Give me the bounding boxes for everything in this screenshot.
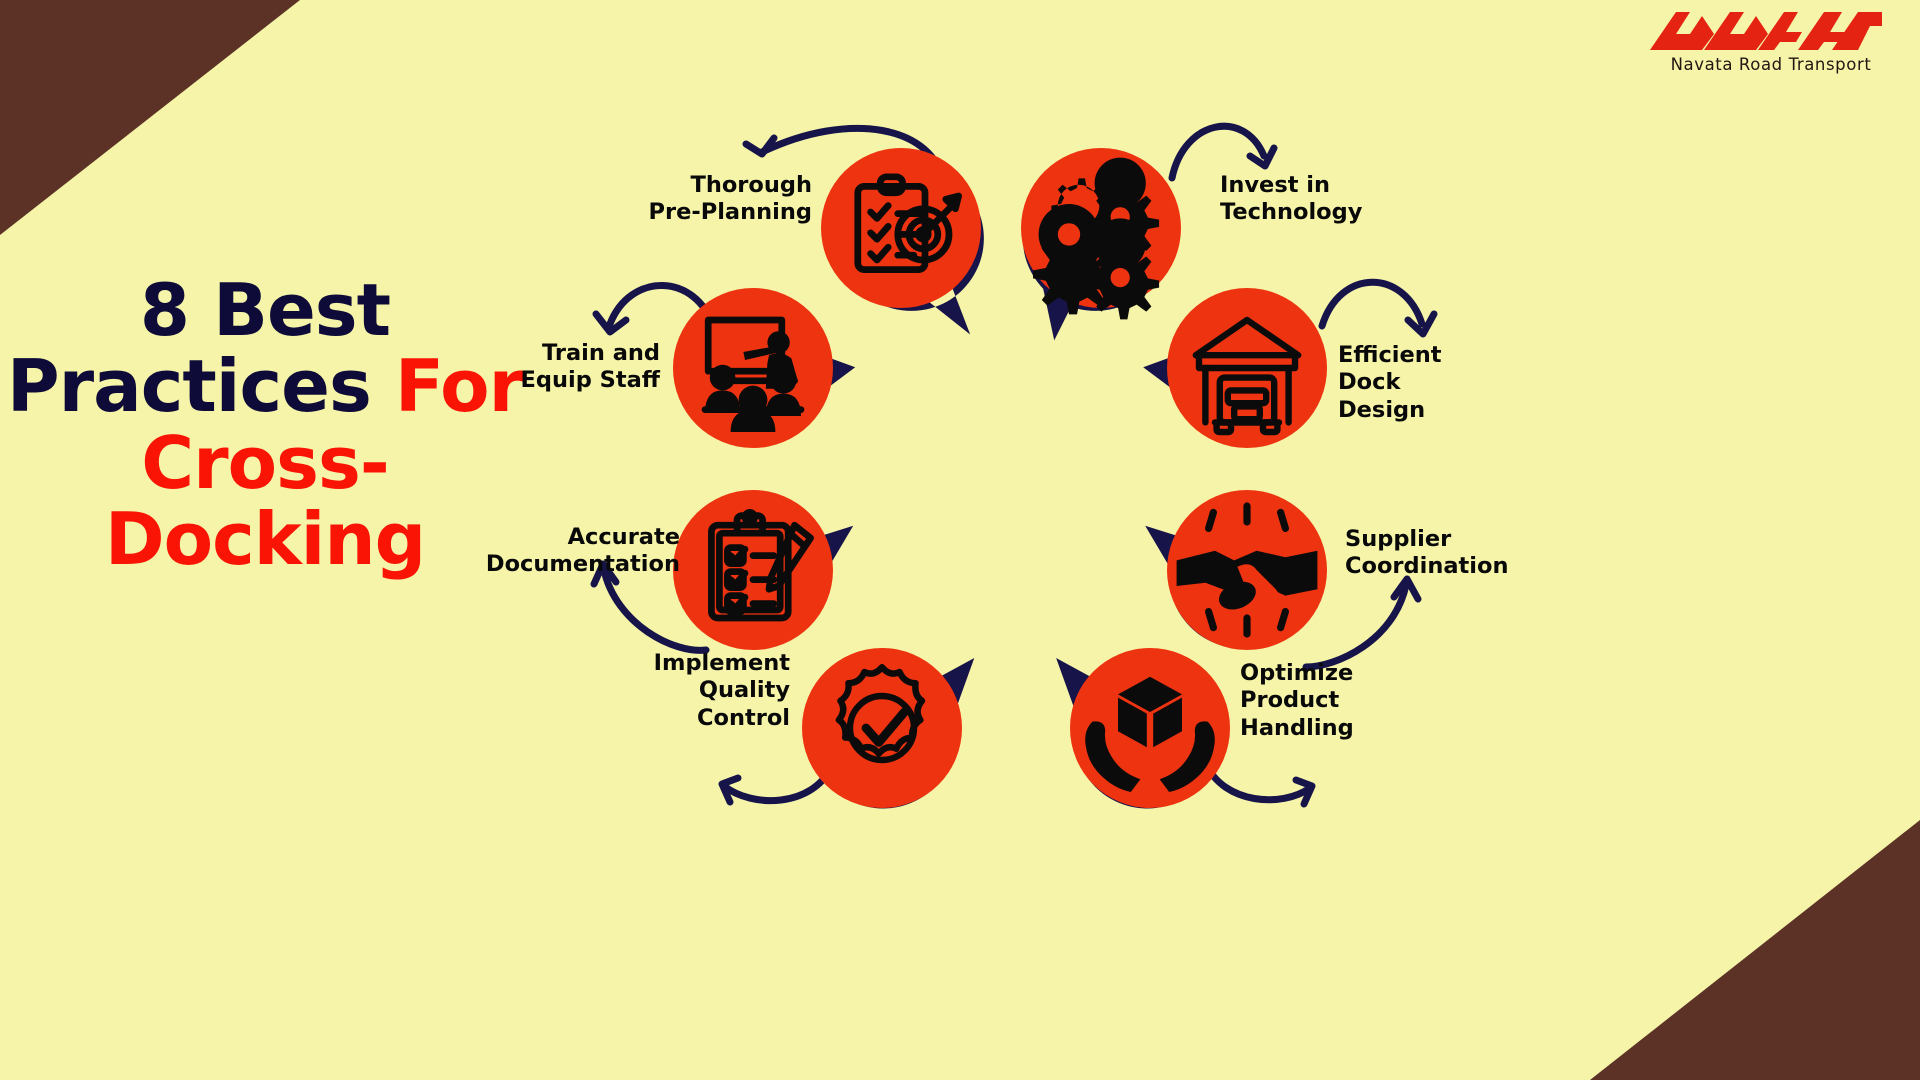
- brand-logo: Navata Road Transport: [1646, 6, 1896, 74]
- hands-holding-box-icon: [1070, 648, 1230, 808]
- warehouse-truck-icon: [1167, 288, 1327, 448]
- step-label-8: Train and Equip Staff: [470, 340, 660, 395]
- step-label-7: Accurate Documentation: [480, 524, 680, 579]
- clipboard-target-icon: [821, 148, 981, 308]
- step-label-3: Efficient Dock Design: [1338, 342, 1528, 424]
- corner-triangle-bottom-right: [1590, 820, 1920, 1080]
- step-label-5: Optimize Product Handling: [1240, 660, 1440, 742]
- page-title: 8 Best Practices For Cross- Docking: [0, 272, 530, 577]
- title-line-4: Docking: [0, 501, 530, 577]
- corner-triangle-top-left: [0, 0, 300, 235]
- step-label-4: Supplier Coordination: [1345, 526, 1575, 581]
- clipboard-pencil-icon: [673, 490, 833, 650]
- step-label-1: Thorough Pre-Planning: [600, 172, 812, 227]
- verified-badge-icon: [802, 648, 962, 808]
- title-line-2-navy: Practices: [7, 344, 395, 428]
- gears-icon: [1021, 148, 1181, 308]
- handshake-icon: [1167, 490, 1327, 650]
- infographic-canvas: Navata Road Transport 8 Best Practices F…: [0, 0, 1920, 1080]
- brand-tagline: Navata Road Transport: [1646, 55, 1896, 74]
- step-label-6: Implement Quality Control: [600, 650, 790, 732]
- training-board-icon: [673, 288, 833, 448]
- step-label-2: Invest in Technology: [1220, 172, 1440, 227]
- title-line-1: 8 Best: [0, 272, 530, 348]
- title-line-3: Cross-: [0, 425, 530, 501]
- navata-wordmark-icon: [1646, 6, 1886, 54]
